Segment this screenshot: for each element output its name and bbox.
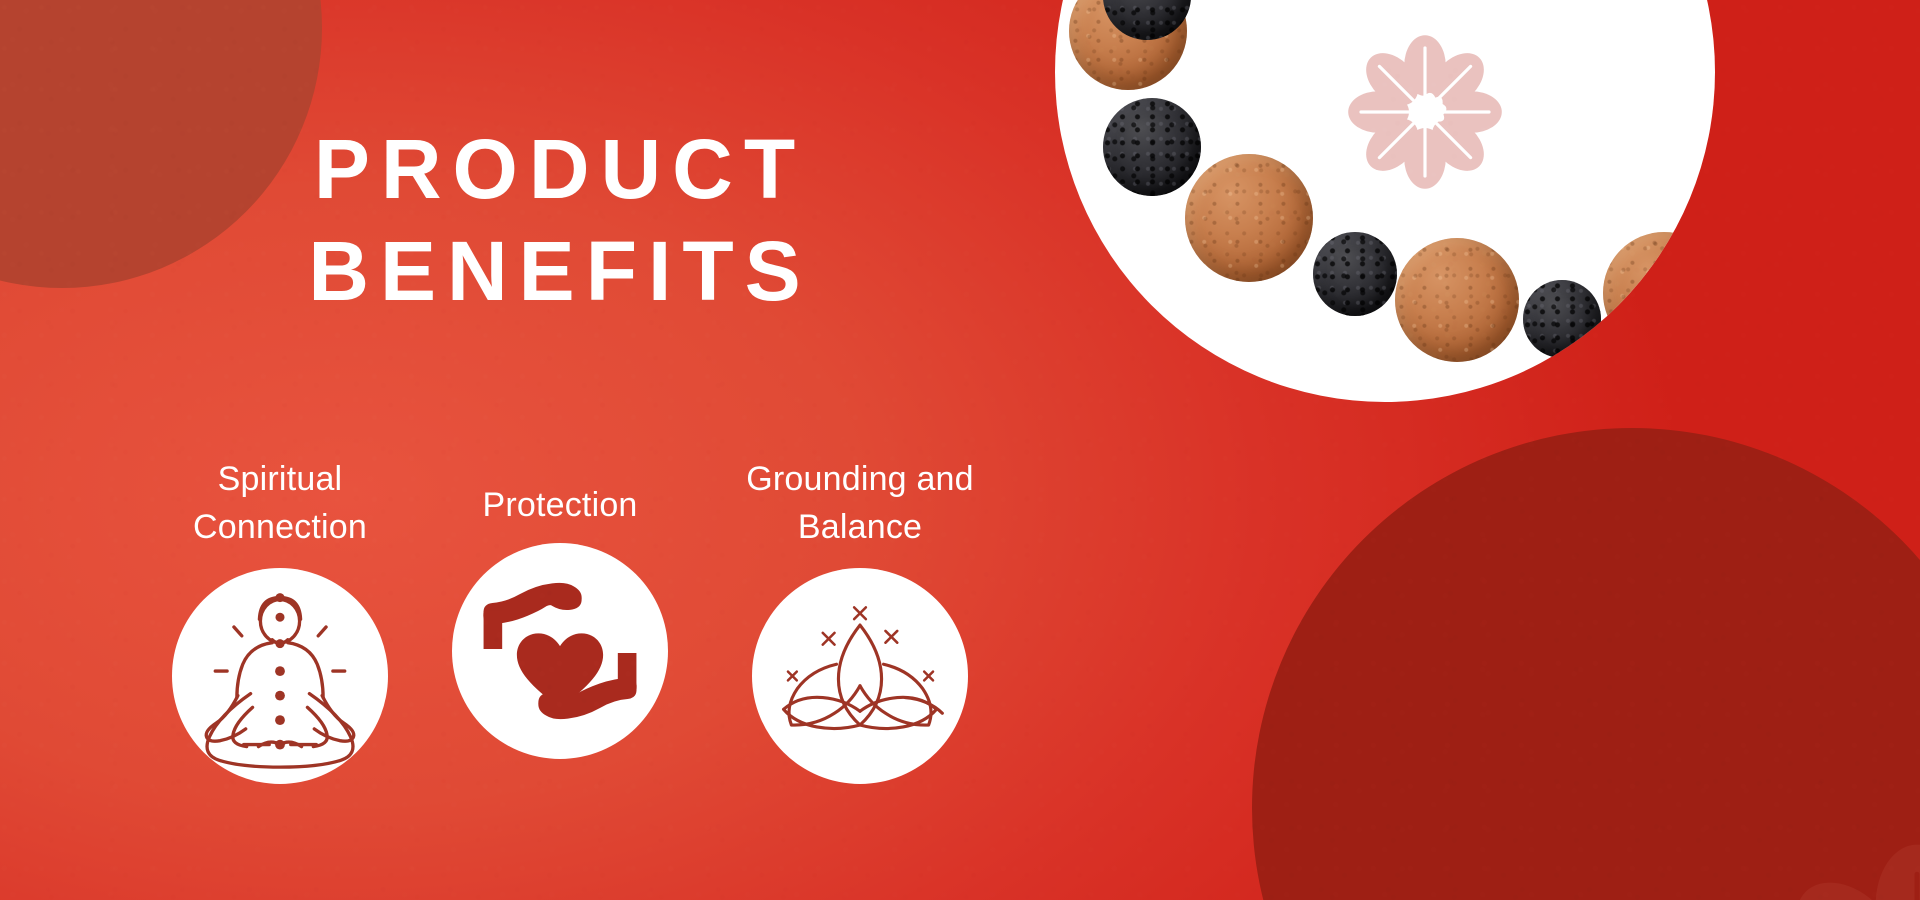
benefit-item-grounding-and-balance: Grounding and Balance	[710, 455, 1010, 784]
flower-decoration-icon	[1345, 32, 1505, 192]
benefit-label: Grounding and Balance	[746, 455, 974, 552]
benefits-list: Spiritual Connection	[150, 455, 1170, 784]
benefit-label: Spiritual Connection	[193, 455, 367, 552]
benefit-icon-circle	[172, 568, 388, 784]
bead-lava	[1523, 280, 1601, 358]
benefit-label: Protection	[482, 481, 637, 529]
decorative-circle-bottom-right	[1252, 428, 1920, 900]
benefit-icon-circle	[452, 543, 668, 759]
bead-rudraksha	[1603, 232, 1715, 354]
page-title: PRODUCT BENEFITS	[0, 118, 1120, 323]
lotus-flower-icon	[762, 578, 958, 774]
hands-holding-heart-icon	[462, 553, 658, 749]
benefit-item-protection: Protection	[410, 481, 710, 759]
benefit-item-spiritual-connection: Spiritual Connection	[150, 455, 410, 784]
product-benefits-banner: PRODUCT BENEFITS Spiritual Connection	[0, 0, 1920, 900]
bead-lava	[1313, 232, 1397, 316]
petal-motif-icon	[1752, 838, 1920, 900]
bead-rudraksha	[1185, 154, 1313, 282]
bracelet-photo-clip	[1055, 0, 1715, 402]
meditation-lotus-pose-icon	[182, 578, 378, 774]
bracelet-photo-circle	[1055, 0, 1715, 402]
benefit-icon-circle	[752, 568, 968, 784]
bead-rudraksha	[1395, 238, 1519, 362]
headline-line-1: PRODUCT	[314, 122, 806, 216]
headline-line-2: BENEFITS	[0, 220, 1120, 322]
